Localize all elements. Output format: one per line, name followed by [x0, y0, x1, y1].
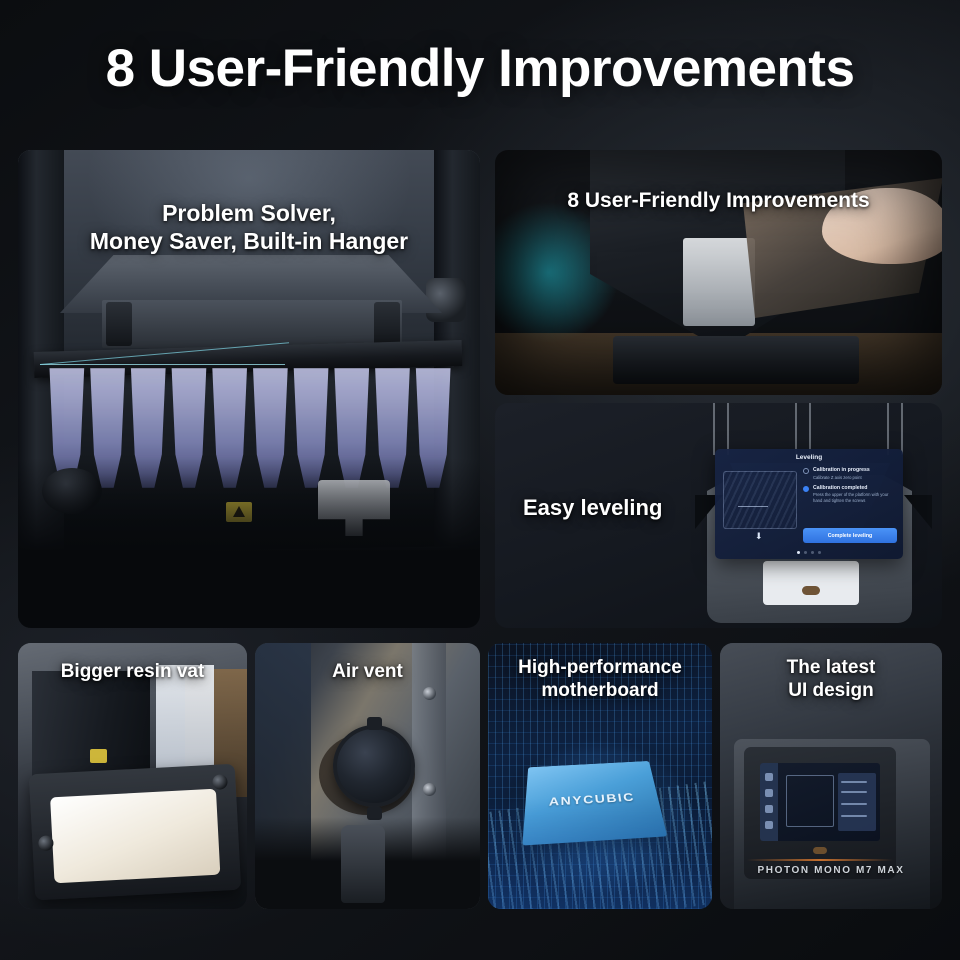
panel-easy-leveling[interactable]: Leveling ⬇ Calibration in progress Calib…: [495, 403, 942, 628]
rod: [809, 403, 811, 455]
pagination-dot[interactable]: [804, 551, 807, 554]
sidebar-files-icon[interactable]: [765, 805, 773, 813]
vent-tab: [367, 717, 382, 730]
copper-accent-strip: [747, 859, 893, 861]
chassis-corner-right: [904, 495, 932, 529]
panel-built-in-hanger[interactable]: 5° MAX Problem Solver, Money Saver, Buil…: [18, 150, 480, 628]
step-heading: Calibration in progress: [813, 467, 897, 474]
rod: [901, 403, 903, 455]
home-button: [802, 586, 820, 595]
warning-triangle-sticker: [90, 749, 107, 763]
complete-leveling-button[interactable]: Complete leveling: [803, 528, 897, 543]
rod: [713, 403, 715, 455]
panel-ui-design[interactable]: PHOTON MONO M7 MAX The latest UI design: [720, 643, 942, 909]
sidebar-settings-icon[interactable]: [765, 821, 773, 829]
leveling-step-list: Calibration in progress Calibrate Z axis…: [803, 467, 897, 508]
vat-screw: [212, 774, 228, 790]
step-subtext: Press the upper of the platform with you…: [813, 492, 897, 503]
rod: [795, 403, 797, 455]
pagination-dot[interactable]: [797, 551, 800, 554]
status-line: [841, 803, 867, 805]
sidebar-print-icon[interactable]: [765, 789, 773, 797]
panel-caption-ui-design: The latest UI design: [720, 657, 942, 703]
status-line: [841, 791, 867, 793]
screen-sidebar[interactable]: [760, 763, 778, 841]
leveling-step: Calibration in progress Calibrate Z axis…: [803, 467, 897, 480]
resin-vat: [29, 764, 241, 901]
printer-touchscreen[interactable]: [760, 763, 880, 841]
printer-touchscreen: [763, 561, 859, 605]
home-button[interactable]: [813, 847, 827, 854]
status-line: [841, 781, 867, 783]
clamp-bolt-right: [374, 302, 400, 346]
rail-bolt: [423, 687, 436, 700]
leveling-step: Calibration completed Press the upper of…: [803, 485, 897, 503]
panel-caption-easy-leveling: Easy leveling: [523, 495, 662, 521]
panel-improvements[interactable]: 8 User-Friendly Improvements: [495, 150, 942, 395]
clamp-bolt-left: [106, 302, 132, 346]
product-model-label: PHOTON MONO M7 MAX: [720, 865, 942, 876]
panel-caption-bigger-resin-vat: Bigger resin vat: [18, 661, 247, 684]
status-line: [841, 815, 867, 817]
step-bullet-icon: [803, 468, 809, 474]
panel-motherboard[interactable]: ANYCUBIC High-performance motherboard: [488, 643, 712, 909]
down-arrow-icon: ⬇: [755, 531, 763, 542]
vat-screw: [38, 835, 54, 851]
panel-vignette: [495, 150, 942, 395]
panel-caption-improvements: 8 User-Friendly Improvements: [495, 188, 942, 213]
vat-release-film: [50, 789, 220, 884]
page-title: 8 User-Friendly Improvements: [0, 38, 960, 99]
rod: [727, 403, 729, 455]
angle-reference-line: [40, 364, 285, 365]
leveling-dialog[interactable]: Leveling ⬇ Calibration in progress Calib…: [715, 449, 903, 559]
pagination-dot[interactable]: [818, 551, 821, 554]
step-heading: Calibration completed: [813, 485, 897, 492]
step-bullet-icon-active: [803, 486, 809, 492]
air-vent-module: [333, 725, 415, 807]
panel-caption-motherboard: High-performance motherboard: [488, 657, 712, 703]
pagination-dot[interactable]: [811, 551, 814, 554]
printer-knob: [426, 278, 466, 322]
blue-glow: [488, 799, 712, 909]
rail-bolt: [423, 783, 436, 796]
resin-bottle: [341, 825, 385, 903]
panel-bigger-resin-vat[interactable]: Bigger resin vat: [18, 643, 247, 909]
build-plate-clamp: [102, 300, 402, 348]
sidebar-home-icon[interactable]: [765, 773, 773, 781]
panel-vignette: [18, 458, 480, 628]
leveling-dialog-title: Leveling: [715, 454, 903, 461]
leveling-illustration: [723, 471, 797, 529]
panel-caption-air-vent: Air vent: [255, 661, 480, 684]
panel-air-vent[interactable]: Air vent: [255, 643, 480, 909]
rod: [887, 403, 889, 455]
printer-illustration: [786, 775, 834, 827]
panel-caption-built-in-hanger: Problem Solver, Money Saver, Built-in Ha…: [18, 200, 480, 255]
status-card: [838, 773, 876, 831]
step-subtext: Calibrate Z axis zero point: [813, 475, 897, 480]
dialog-pagination-dots[interactable]: [715, 551, 903, 554]
promo-graphic: 8 User-Friendly Improvements 5°: [0, 0, 960, 960]
